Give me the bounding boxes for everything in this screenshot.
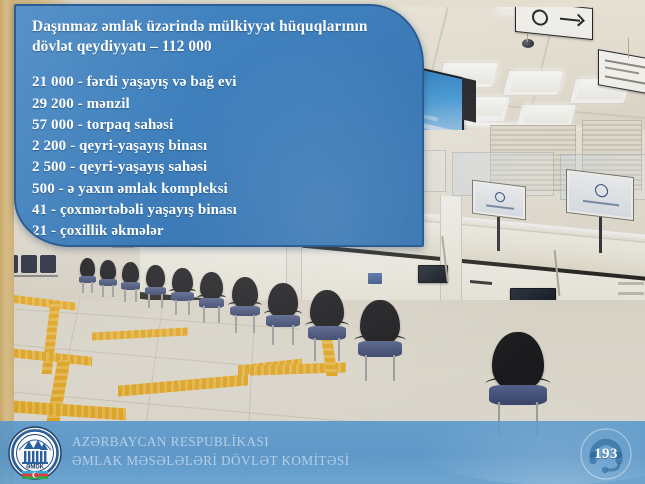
statistic-item: 21 - çoxillik əkmələr	[32, 221, 406, 242]
statistic-item: 500 - ə yaxın əmlak kompleksi	[32, 179, 406, 200]
waiting-chair	[310, 290, 344, 358]
waiting-chair	[122, 262, 139, 300]
waiting-chair	[200, 272, 223, 321]
org-line-2: ƏMLAK MƏSƏLƏLƏRİ DÖVLƏT KOMİTƏSİ	[72, 452, 350, 471]
waiting-chair	[80, 258, 95, 292]
svg-text:ƏMDK: ƏMDK	[26, 465, 45, 471]
statistic-item: 2 200 - qeyri-yaşayış binası	[32, 136, 406, 157]
waiting-chair	[492, 332, 544, 432]
state-committee-logo: ƏMDK	[8, 426, 62, 480]
statistics-panel: Daşınmaz əmlak üzərində mülkiyyət hüquql…	[14, 4, 424, 247]
waiting-chair	[268, 283, 298, 343]
panel-title: Daşınmaz əmlak üzərində mülkiyyət hüquql…	[32, 17, 406, 56]
security-camera-icon	[522, 39, 534, 48]
statistic-item: 57 000 - torpaq sahəsi	[32, 115, 406, 136]
emblem-icon: ƏMDK	[8, 426, 62, 480]
statistics-list: 21 000 - fərdi yaşayış və bağ evi 29 200…	[32, 72, 406, 242]
presentation-slide: Daşınmaz əmlak üzərində mülkiyyət hüquql…	[0, 0, 645, 484]
statistic-item: 2 500 - qeyri-yaşayış sahəsi	[32, 157, 406, 178]
organization-name: AZƏRBAYCAN RESPUBLİKASI ƏMLAK MƏSƏLƏLƏRİ…	[72, 433, 350, 470]
statistic-item: 21 000 - fərdi yaşayış və bağ evi	[32, 72, 406, 93]
workstation-monitor	[418, 265, 448, 283]
statistic-item: 29 200 - mənzil	[32, 94, 406, 115]
self-service-kiosk	[566, 169, 634, 221]
footer-bar: ƏMDK AZƏRBAYCAN RESPUBLİKASI ƏMLAK MƏSƏL…	[0, 421, 645, 484]
waiting-chair	[100, 260, 116, 296]
waiting-chair	[360, 300, 400, 378]
self-service-kiosk	[472, 180, 526, 221]
statistic-item: 41 - çoxmərtəbəli yaşayış binası	[32, 200, 406, 221]
waiting-chair	[146, 265, 165, 306]
slide-border-left	[0, 0, 14, 484]
org-line-1: AZƏRBAYCAN RESPUBLİKASI	[72, 434, 269, 449]
waiting-chair	[172, 268, 193, 313]
hotline-number: 193	[579, 427, 633, 481]
hotline-badge: 193	[579, 427, 633, 481]
waiting-chair	[232, 277, 258, 331]
